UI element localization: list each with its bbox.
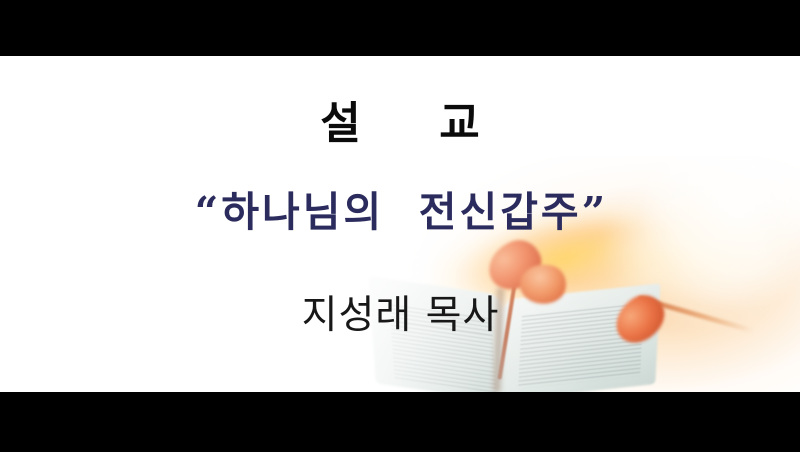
slide-stage: 설 교 “하나님의 전신갑주” 지성래 목사 xyxy=(0,56,800,392)
slide-heading: 설 교 xyxy=(0,102,800,146)
letterbox-bar-bottom xyxy=(0,392,800,452)
slide-subtitle: “하나님의 전신갑주” xyxy=(0,192,800,233)
sermon-title-slide: 설 교 “하나님의 전신갑주” 지성래 목사 xyxy=(0,0,800,452)
slide-speaker-name: 지성래 목사 xyxy=(0,296,800,335)
title-text-block: 설 교 “하나님의 전신갑주” 지성래 목사 xyxy=(0,56,800,392)
letterbox-bar-top xyxy=(0,0,800,56)
